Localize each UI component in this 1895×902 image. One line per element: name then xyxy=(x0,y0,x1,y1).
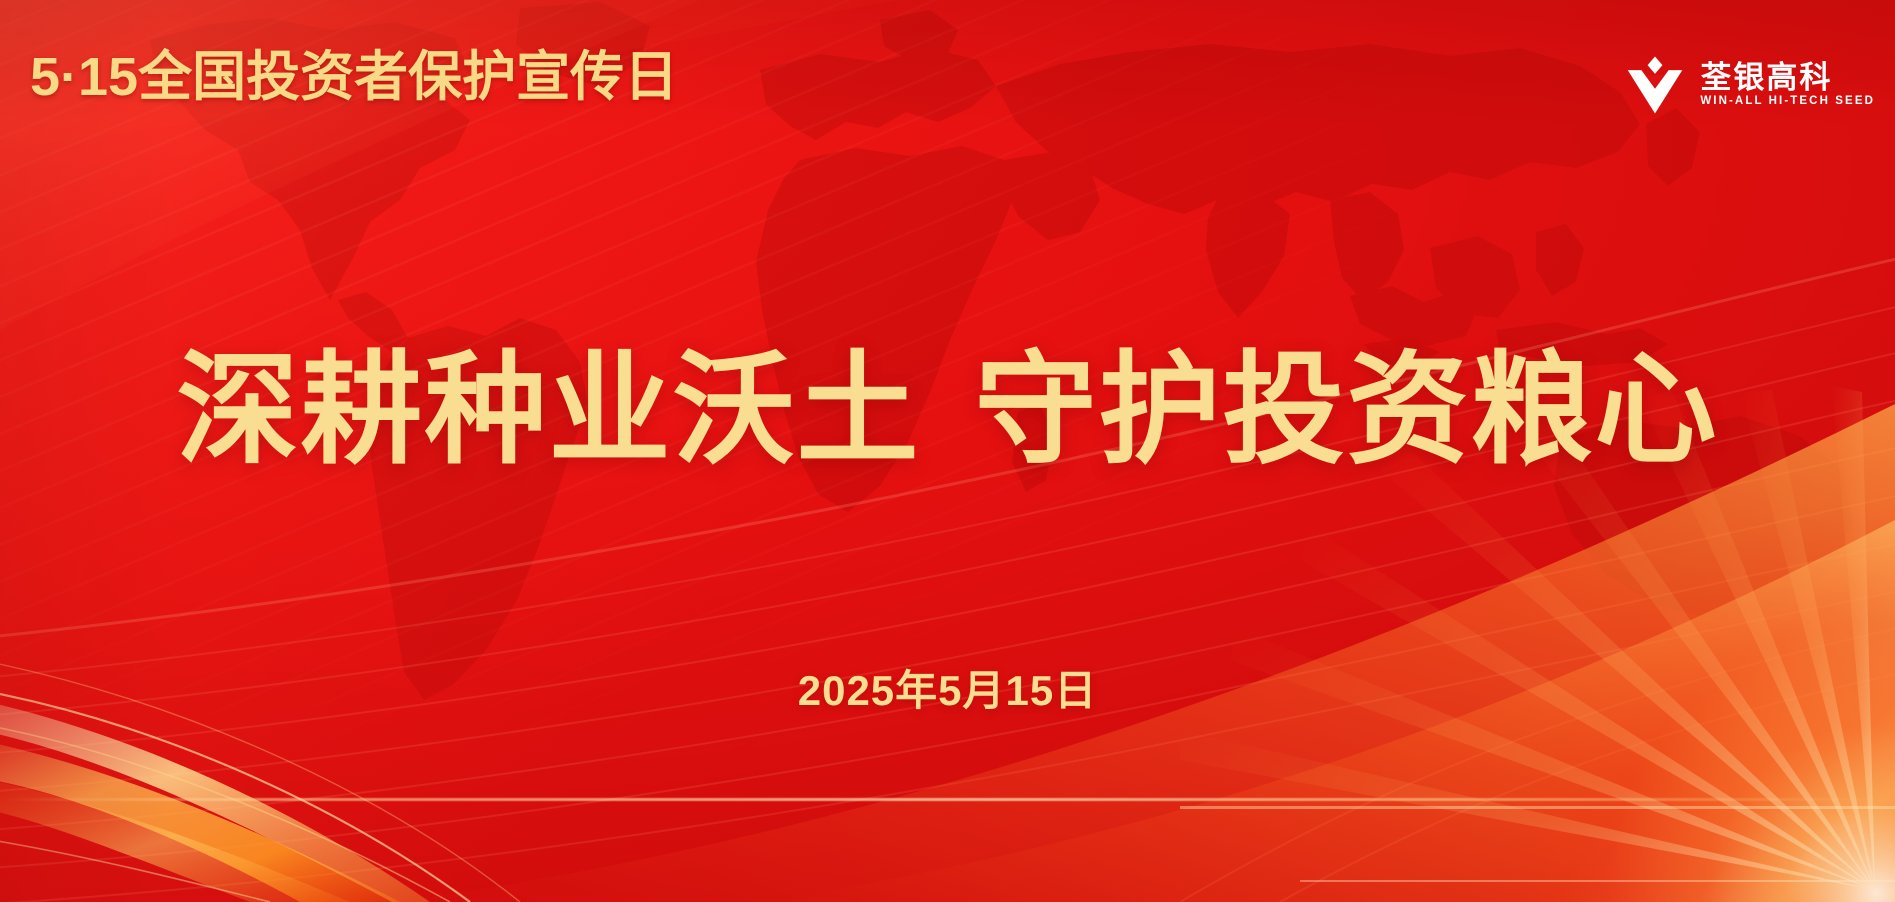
main-slogan-part1: 深耕种业沃土 xyxy=(177,342,921,478)
event-headline: 5·15全国投资者保护宣传日 xyxy=(30,50,678,104)
company-logo[interactable]: 荃银高科 WIN-ALL HI-TECH SEED xyxy=(1624,52,1875,118)
investor-protection-day-banner: 5·15全国投资者保护宣传日 荃银高科 WIN-ALL HI-TECH SEED… xyxy=(0,0,1895,902)
logo-name-cn: 荃银高科 xyxy=(1700,62,1875,93)
main-slogan: 深耕种业沃土守护投资粮心 xyxy=(0,345,1895,477)
chevron-diamond-icon xyxy=(1624,54,1686,116)
main-slogan-part2: 守护投资粮心 xyxy=(975,342,1719,478)
logo-name-en: WIN-ALL HI-TECH SEED xyxy=(1700,96,1875,108)
event-date: 2025年5月15日 xyxy=(0,657,1895,718)
